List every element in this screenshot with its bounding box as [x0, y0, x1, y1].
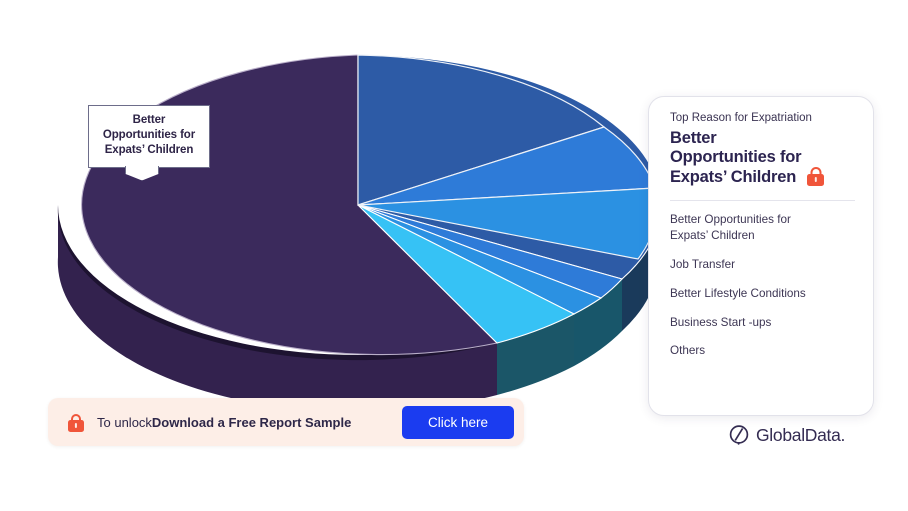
legend-item-others[interactable]: Others [670, 343, 855, 359]
slice-callout-text: Better Opportunities for Expats’ Childre… [95, 113, 203, 159]
legend-panel: Top Reason for Expatriation Better Oppor… [648, 96, 874, 416]
legend-headline: Better Opportunities for Expats’ Childre… [670, 129, 801, 188]
cta-text: To unlockDownload a Free Report Sample [97, 415, 351, 430]
pie-chart [0, 0, 680, 460]
legend-item-better-opportunities[interactable]: Better Opportunities for Expats’ Childre… [670, 212, 855, 244]
lock-keyhole [75, 423, 77, 428]
lock-icon [807, 166, 824, 186]
legend-divider [670, 200, 855, 201]
pie-chart-svg [0, 0, 680, 460]
legend-headline-row: Better Opportunities for Expats’ Childre… [670, 129, 855, 188]
lock-icon [68, 413, 84, 432]
cta-emphasis: Download a Free Report Sample [152, 415, 351, 430]
brand-name: GlobalData. [756, 425, 845, 446]
legend-eyebrow: Top Reason for Expatriation [670, 111, 855, 127]
unlock-cta-banner: To unlockDownload a Free Report Sample C… [48, 398, 524, 446]
slice-callout-label: Better Opportunities for Expats’ Childre… [88, 105, 210, 168]
globaldata-logo: GlobalData. [728, 424, 845, 446]
legend-item-job-transfer[interactable]: Job Transfer [670, 257, 855, 273]
legend-item-business-startups[interactable]: Business Start -ups [670, 315, 855, 331]
globaldata-circle-slash-icon [728, 424, 750, 446]
legend-item-better-lifestyle[interactable]: Better Lifestyle Conditions [670, 286, 855, 302]
click-here-button[interactable]: Click here [402, 406, 514, 439]
cta-prefix: To unlock [97, 415, 152, 430]
